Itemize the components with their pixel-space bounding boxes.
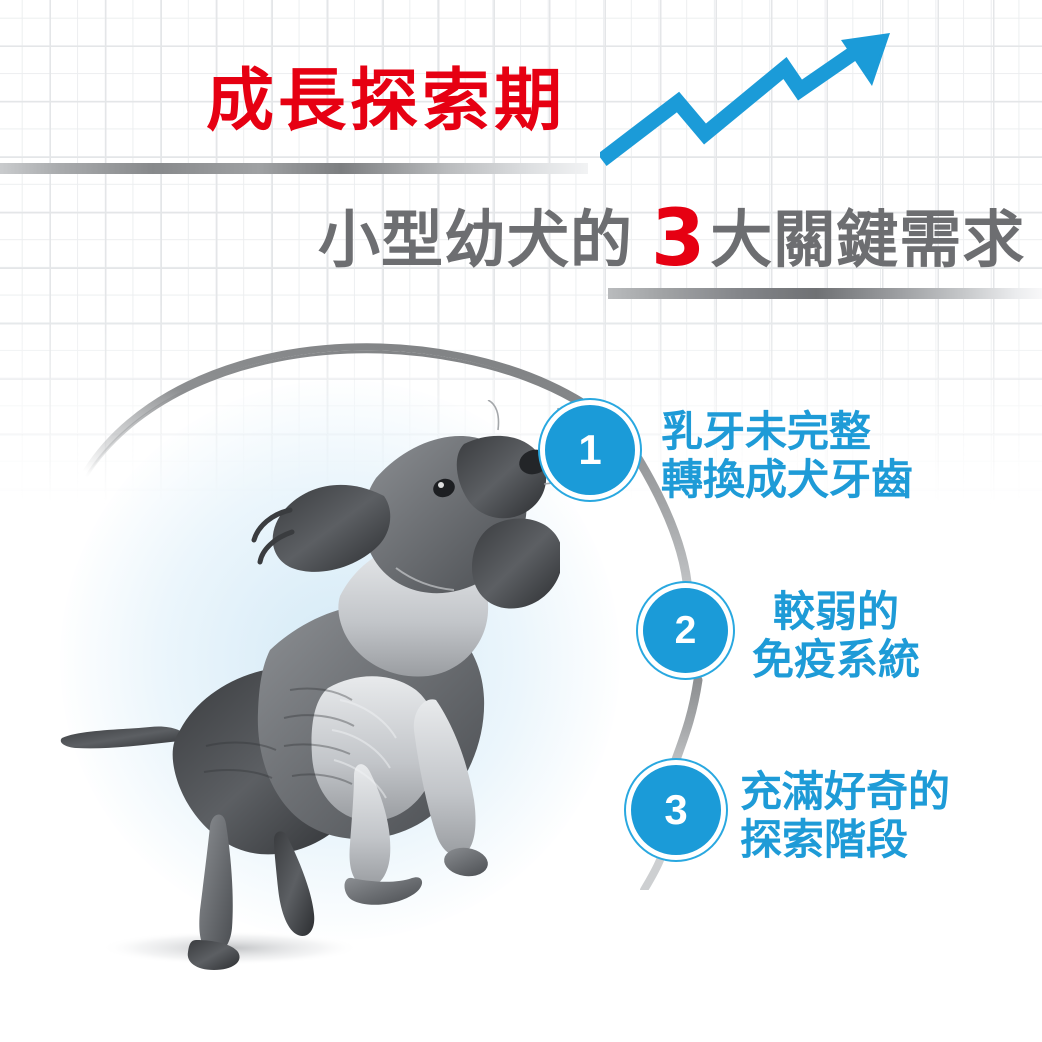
dog-glow-backdrop [60,380,620,940]
subtitle-accent-number: 3 [647,194,710,284]
need-label-3-line2: 探索階段 [740,816,950,864]
upward-trend-arrow-icon [600,28,1030,198]
puppy-photo [40,400,560,1000]
need-label-2-line1: 較弱的 [752,588,920,636]
need-label-1: 乳牙未完整 轉換成犬牙齒 [661,408,913,504]
need-label-2-line2: 免疫系統 [752,636,920,684]
need-label-3-line1: 充滿好奇的 [740,768,950,816]
need-label-1-line2: 轉換成犬牙齒 [661,456,913,504]
need-number-badge-3: 3 [626,760,726,860]
page-subtitle: 小型幼犬的3大關鍵需求 [318,200,1025,278]
subtitle-trail: 大關鍵需求 [710,203,1025,276]
need-label-2: 較弱的 免疫系統 [752,588,920,684]
need-number-badge-2: 2 [638,583,733,678]
subtitle-lead: 小型幼犬的 [318,203,647,276]
need-number-badge-1: 1 [540,400,640,500]
infographic-poster: 成長探索期 小型幼犬的3大關鍵需求 [0,0,1042,1042]
need-label-3: 充滿好奇的 探索階段 [740,768,950,864]
need-label-1-line1: 乳牙未完整 [661,408,913,456]
page-title: 成長探索期 [206,68,566,136]
metallic-bar-top [0,163,588,174]
metallic-bar-sub [608,288,1042,299]
